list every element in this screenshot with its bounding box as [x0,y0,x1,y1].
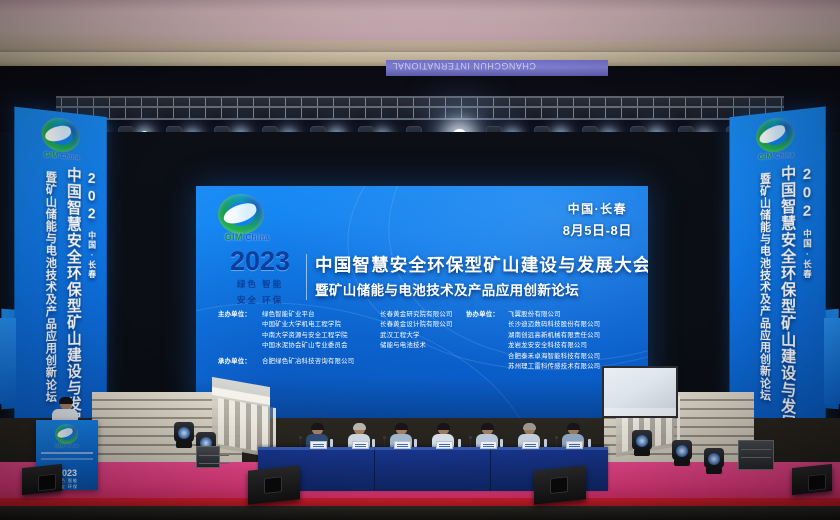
host-item: 中南大学资源与安全工程学院 [262,331,380,341]
title-group: 中国智慧安全环保型矿山建设与发展大会 暨矿山储能与电池技术及产品应用创新论坛 [315,255,648,299]
host-item: 储能与电池技术 [380,341,480,351]
light-base [176,441,192,448]
floor-moving-light [632,430,652,456]
gim-china-logo: GIM China [210,194,284,248]
logo-gim-text: GIM [44,149,59,159]
gim-china-logo: GIM China [747,115,807,167]
water-bottle [458,439,461,447]
conference-title: 中国智慧安全环保型矿山建设与发展大会 [315,255,648,275]
screen-title-row: 2023 绿色 智能 安全 环保 中国智慧安全环保型矿山建设与发展大会 暨矿山储… [216,248,628,307]
co-organizer-row: 协办单位： 飞翼股份有限公司 长沙迪迈数码科技股份有限公司 湖南创远高新机械有限… [466,310,638,372]
title-divider [306,254,307,300]
floor-monitor-speaker [792,464,832,495]
light-lens-icon [636,435,648,447]
panelist-hair [395,423,408,430]
logo-text: GIM China [210,232,284,242]
logo-china-text: China [61,153,80,161]
name-card [480,441,497,449]
water-bottle [330,439,333,447]
host-item: 武汉工程大学 [380,331,480,341]
organizer-block: 主办单位： 绿色智能矿业平台 中国矿业大学机电工程学院 中南大学资源与安全工程学… [218,310,636,367]
logo-china-text: China [775,151,794,160]
host-item: 中国矿业大学机电工程学院 [262,320,380,330]
logo-text: GIM China [747,148,807,162]
location-city: 中国·长春 [563,200,632,217]
logo-china-text: China [66,443,79,448]
ceiling-glow [0,0,840,40]
co-organizer-list: 飞翼股份有限公司 长沙迪迈数码科技股份有限公司 湖南创远高新机械有限责任公司 龙… [508,310,600,372]
co-organizer-item: 苏州理工雷科传感技术有限公司 [508,362,600,372]
conference-stage-photo: CHANGCHUN INTERNATIONAL [0,0,840,520]
co-organizer-item: 飞翼股份有限公司 [508,310,600,320]
side-screen-left [0,318,16,404]
panelist-hair [523,423,536,430]
table-seam [490,447,491,491]
name-card [522,441,539,449]
floor-moving-light [672,440,692,466]
year-block: 2023 绿色 智能 安全 环保 [216,248,304,307]
host-item: 中国水泥协会矿山专业委员会 [262,341,380,351]
water-bottle [588,439,591,447]
water-bottle [500,439,503,447]
water-bottle [372,439,375,447]
host-list-column-a: 绿色智能矿业平台 中国矿业大学机电工程学院 中南大学资源与安全工程学院 中国水泥… [262,310,380,352]
conference-subtitle: 暨矿山储能与电池技术及产品应用创新论坛 [315,279,648,299]
host-label: 主办单位： [218,310,262,352]
equipment-road-case [196,446,220,468]
podium-rule [41,458,93,460]
table-seam [374,447,375,491]
podium-rule [41,452,93,454]
slogan-line-1: 绿色 智能 [216,278,304,291]
panelist-hair [353,423,366,430]
panelist-hair [437,423,450,430]
banner-left-city: 中国·长春 [87,231,98,294]
balustrade-left [212,377,270,457]
name-card [436,441,453,449]
side-screen-right [824,318,840,404]
auxiliary-display [602,366,678,418]
name-card [394,441,411,449]
name-card [310,441,327,449]
name-card [566,441,583,449]
gim-china-logo: GIM China [32,115,92,167]
panelist-hair [311,423,324,430]
display-base [604,408,676,416]
lighting-truss-main [56,96,784,120]
floor-moving-light [174,422,194,448]
stage-apron [0,506,840,520]
undertaker-label: 承办单位： [218,357,262,367]
led-ticker-text: CHANGCHUN INTERNATIONAL [392,61,536,71]
logo-gim-text: GIM [225,232,243,242]
slogan-line-2: 安全 环保 [216,294,304,307]
banner-right-year: 2023 [798,165,815,223]
gim-china-logo: GIM China [49,424,85,450]
co-organizer-item: 合肥泰禾卓海智能科技有限公司 [508,352,600,362]
main-led-screen: GIM China 中国·长春 8月5日-8日 2023 绿色 智能 安全 环保… [196,186,648,418]
logo-gim-text: GIM [758,151,772,161]
logo-gim-text: GIM [55,443,64,448]
light-lens-icon [676,445,688,457]
host-item: 绿色智能矿业平台 [262,310,380,320]
light-lens-icon [178,427,190,439]
light-base [634,449,650,456]
light-lens-icon [708,453,720,465]
co-organizer-item: 长沙迪迈数码科技股份有限公司 [508,320,600,330]
location-date: 8月5日-8日 [563,220,632,239]
water-bottle [544,439,547,447]
logo-china-text: China [245,233,269,242]
light-base [674,459,690,466]
light-base [706,467,722,474]
floor-monitor-speaker [534,465,586,504]
panelist-hair [481,423,494,430]
floor-monitor-speaker [248,465,300,504]
banner-right-subtitle: 暨矿山储能与电池技术及产品应用创新论坛 [757,172,772,439]
led-ticker-strip: CHANGCHUN INTERNATIONAL [386,60,608,76]
equipment-road-case [738,440,774,470]
floor-moving-light [704,448,724,474]
logo-text: GIM China [32,148,92,162]
panelist-hair [567,423,580,430]
banner-right-city: 中国·长春 [801,229,813,295]
year-text: 2023 [216,248,304,275]
co-organizer-item: 湖南创远高新机械有限责任公司 [508,331,600,341]
host-item: 长春黄金设计院有限公司 [380,320,480,330]
speaker-hair [59,397,73,404]
floor-monitor-speaker [22,464,62,495]
banner-left-year: 2023 [84,170,100,226]
banner-right-title: 中国智慧安全环保型矿山建设与发展大会 [776,164,797,447]
screen-location-block: 中国·长春 8月5日-8日 [563,200,632,239]
undertaker-name: 合肥绿色矿冶科技咨询有限公司 [262,357,354,367]
co-organizer-item: 龙岩龙安安全科技有限公司 [508,341,600,351]
logo-text: GIM China [49,443,85,448]
name-card [352,441,369,449]
water-bottle [414,439,417,447]
host-list-column-b: 长春黄金研究院有限公司 长春黄金设计院有限公司 武汉工程大学 储能与电池技术 [380,310,480,352]
co-organizer-label: 协办单位： [466,310,508,372]
host-item: 长春黄金研究院有限公司 [380,310,480,320]
